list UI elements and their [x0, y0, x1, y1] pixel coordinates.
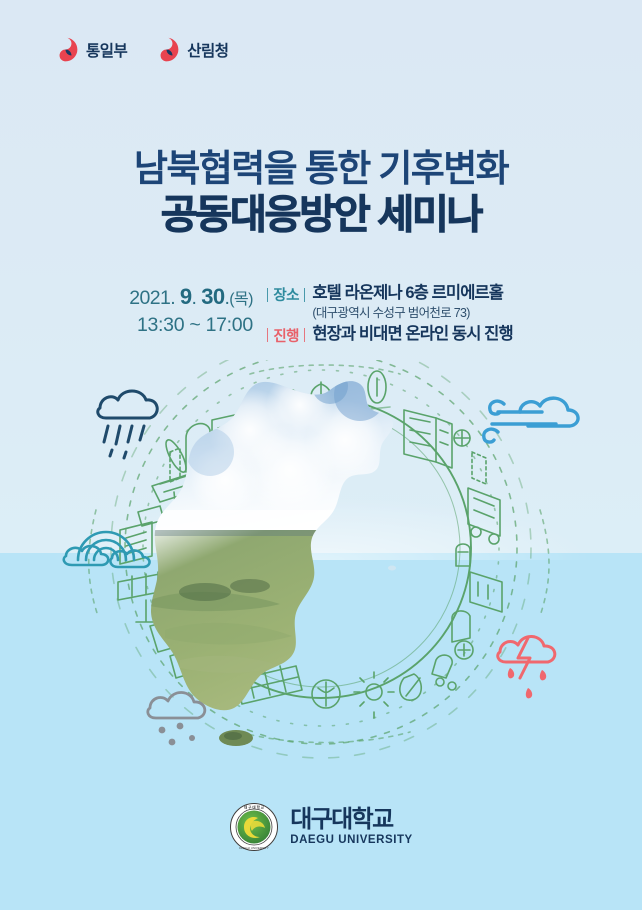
svg-text:DAEGU UNIVERSITY: DAEGU UNIVERSITY [239, 846, 269, 850]
sun-icon [354, 672, 394, 718]
taegeuk-emblem-icon [52, 36, 79, 63]
bottom-group [236, 666, 421, 718]
taegeuk-emblem-icon [153, 36, 180, 63]
date-month: 9 [180, 284, 192, 309]
tag-bar-left [267, 328, 269, 342]
transport-group-right [432, 488, 502, 690]
snow-cloud-icon [148, 692, 205, 745]
daegu-university-emblem-icon: 대 구 대 학 교 DAEGU UNIVERSITY [229, 802, 279, 852]
university-name: 대구대학교 DAEGU UNIVERSITY [290, 808, 413, 847]
event-time: 13:30 ~ 17:00 [129, 312, 253, 339]
tag-bar-left [267, 288, 269, 302]
mode-row: 진행 현장과 비대면 온라인 동시 진행 [267, 324, 513, 346]
date-day: 30 [201, 284, 224, 309]
tag-bar-right [304, 328, 306, 342]
agency-label: 산림청 [187, 39, 228, 61]
tag-bar-right [304, 288, 306, 302]
mode-tag: 진행 [267, 324, 305, 346]
title-line-1: 남북협력을 통한 기후변화 [0, 148, 642, 189]
place-address: (대구광역시 수성구 범어천로 73) [312, 305, 503, 321]
rainbow-cloud-icon [64, 532, 150, 567]
date-year: 2021. [129, 287, 175, 309]
place-row: 장소 호텔 라온제나 6층 르미에르홀 (대구광역시 수성구 범어천로 73) [267, 283, 513, 321]
event-datetime: 2021. 9. 30.(목) 13:30 ~ 17:00 [129, 281, 253, 340]
poster-title: 남북협력을 통한 기후변화 공동대응방안 세미나 [0, 148, 642, 238]
mode-label: 진행 [273, 325, 298, 346]
title-line-2: 공동대응방안 세미나 [0, 192, 642, 238]
thunderstorm-icon [498, 636, 555, 698]
place-value: 호텔 라온제나 6층 르미에르홀 [312, 284, 503, 302]
rain-cloud-icon [98, 391, 157, 458]
government-logo-row: 통일부 산림청 [52, 36, 229, 63]
date-sep: . [192, 287, 197, 309]
event-details: 장소 호텔 라온제나 6층 르미에르홀 (대구광역시 수성구 범어천로 73) … [267, 281, 513, 346]
svg-text:대 구 대 학 교: 대 구 대 학 교 [244, 805, 265, 810]
university-name-ko: 대구대학교 [290, 808, 413, 832]
agency-forest: 산림청 [153, 36, 228, 63]
place-tag: 장소 [267, 283, 305, 305]
central-illustration [0, 360, 642, 780]
agency-unification: 통일부 [52, 36, 127, 63]
place-block: 호텔 라온제나 6층 르미에르홀 (대구광역시 수성구 범어천로 73) [312, 283, 503, 321]
university-logo: 대 구 대 학 교 DAEGU UNIVERSITY 대구대학교 DAEGU U… [0, 802, 642, 852]
mode-value: 현장과 비대면 온라인 동시 진행 [312, 324, 512, 345]
place-label: 장소 [273, 284, 298, 305]
event-date: 2021. 9. 30.(목) [129, 282, 253, 312]
university-name-en: DAEGU UNIVERSITY [290, 835, 413, 847]
agency-label: 통일부 [86, 39, 127, 61]
date-weekday: (목) [229, 291, 253, 308]
seminar-poster: 통일부 산림청 남북협력을 통한 기후변화 공동대응방안 세미나 2021. 9… [0, 0, 642, 910]
event-info: 2021. 9. 30.(목) 13:30 ~ 17:00 장소 호텔 라온제나… [0, 281, 642, 346]
